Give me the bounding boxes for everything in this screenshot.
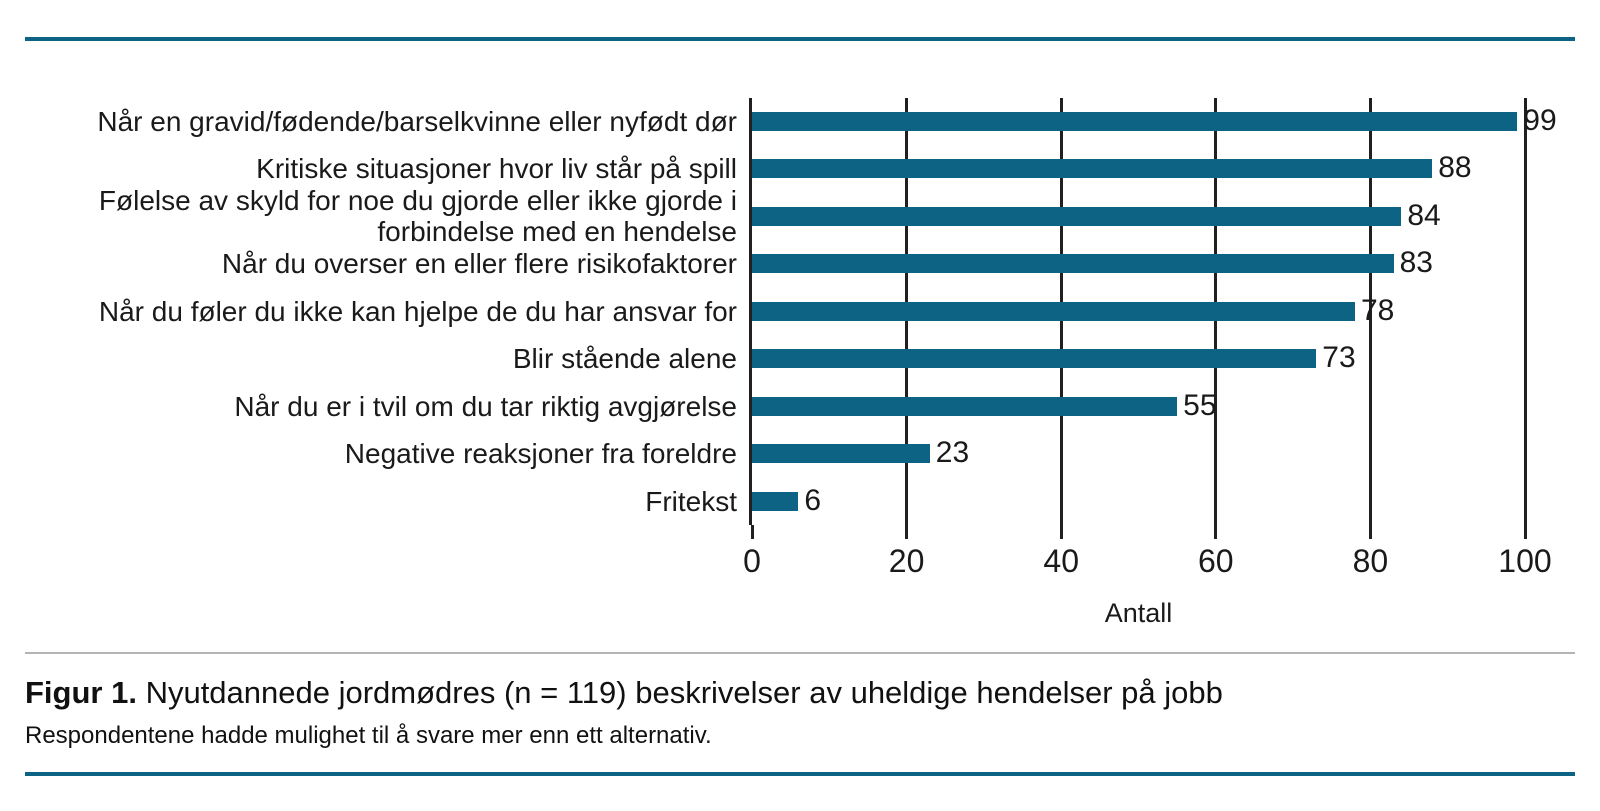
bar[interactable] [752, 397, 1177, 416]
bar-row[interactable]: 55 [752, 383, 1525, 430]
caption-title: Nyutdannede jordmødres (n = 119) beskriv… [137, 675, 1223, 710]
caption-lead: Figur 1. [25, 675, 137, 710]
category-axis-labels: Når en gravid/fødende/barselkvinne eller… [40, 98, 737, 525]
bar[interactable] [752, 112, 1517, 131]
bar-row[interactable]: 6 [752, 478, 1525, 525]
category-label: Når du overser en eller flere risikofakt… [40, 248, 737, 279]
bar-value-label: 73 [1322, 337, 1355, 379]
category-label: Når du føler du ikke kan hjelpe de du ha… [40, 296, 737, 327]
caption-subtext: Respondentene hadde mulighet til å svare… [25, 720, 1575, 752]
bar-value-label: 78 [1361, 290, 1394, 332]
bar[interactable] [752, 349, 1316, 368]
x-tick-80 [1369, 525, 1372, 539]
bar[interactable] [752, 207, 1401, 226]
bar-row[interactable]: 83 [752, 240, 1525, 287]
caption-main-line: Figur 1. Nyutdannede jordmødres (n = 119… [25, 672, 1575, 714]
category-label: Blir stående alene [40, 343, 737, 374]
category-label: Kritiske situasjoner hvor liv står på sp… [40, 153, 737, 184]
bar-value-label: 55 [1183, 385, 1216, 427]
bar[interactable] [752, 302, 1355, 321]
bar[interactable] [752, 444, 930, 463]
bar-chart: Når en gravid/fødende/barselkvinne eller… [0, 56, 1600, 636]
plot-area: 99888483787355236 020406080100 Antall [752, 98, 1525, 525]
bar-row[interactable]: 23 [752, 430, 1525, 477]
bar-value-label: 84 [1407, 195, 1440, 237]
bottom-rule [25, 772, 1575, 776]
x-tick-20 [905, 525, 908, 539]
top-rule [25, 37, 1575, 41]
x-tick-60 [1214, 525, 1217, 539]
x-tick-label-60: 60 [1198, 542, 1234, 580]
category-label: Negative reaksjoner fra foreldre [40, 438, 737, 469]
x-tick-0 [751, 525, 754, 539]
x-tick-label-100: 100 [1498, 542, 1551, 580]
bar[interactable] [752, 254, 1394, 273]
category-label: Fritekst [40, 486, 737, 517]
bar-row[interactable]: 73 [752, 335, 1525, 382]
bar-value-label: 23 [936, 432, 969, 474]
x-tick-100 [1524, 525, 1527, 539]
bar-value-label: 99 [1523, 100, 1556, 142]
category-label: Følelse av skyld for noe du gjorde eller… [40, 185, 737, 247]
figure-container: Når en gravid/fødende/barselkvinne eller… [0, 0, 1600, 811]
bar-value-label: 83 [1400, 242, 1433, 284]
bar[interactable] [752, 159, 1432, 178]
bar-row[interactable]: 99 [752, 98, 1525, 145]
bar-series: 99888483787355236 [752, 98, 1525, 525]
category-label: Når en gravid/fødende/barselkvinne eller… [40, 106, 737, 137]
x-axis-title: Antall [752, 598, 1525, 629]
bar-row[interactable]: 88 [752, 145, 1525, 192]
x-tick-label-0: 0 [743, 542, 761, 580]
bar-row[interactable]: 78 [752, 288, 1525, 335]
x-tick-label-80: 80 [1353, 542, 1389, 580]
bar-row[interactable]: 84 [752, 193, 1525, 240]
x-tick-label-40: 40 [1043, 542, 1079, 580]
x-tick-40 [1060, 525, 1063, 539]
category-label: Når du er i tvil om du tar riktig avgjør… [40, 391, 737, 422]
bar[interactable] [752, 492, 798, 511]
figure-caption: Figur 1. Nyutdannede jordmødres (n = 119… [25, 672, 1575, 752]
bar-value-label: 6 [804, 480, 821, 522]
x-tick-label-20: 20 [889, 542, 925, 580]
caption-divider [25, 652, 1575, 654]
bar-value-label: 88 [1438, 147, 1471, 189]
